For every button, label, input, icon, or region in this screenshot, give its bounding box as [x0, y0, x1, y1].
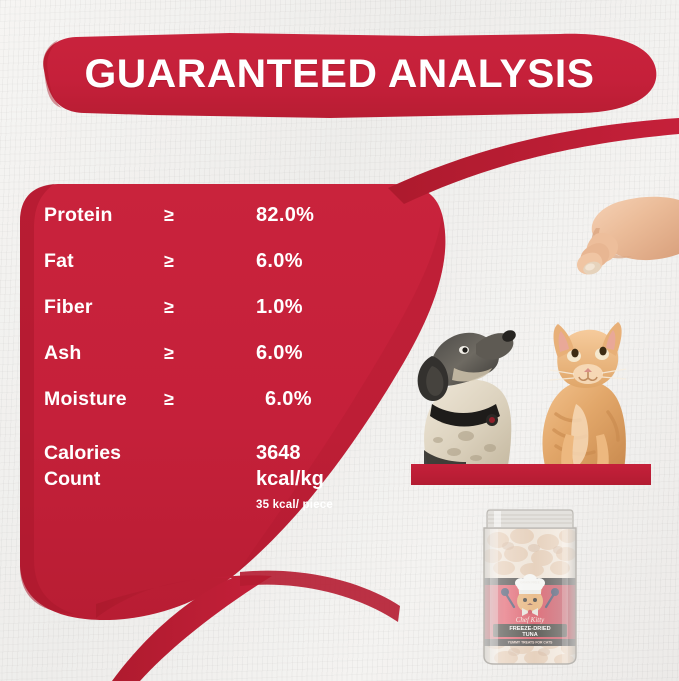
table-row: Protein ≥ 82.0%	[44, 204, 354, 250]
calorie-value: 3648 kcal/kg	[256, 440, 324, 492]
calorie-label-line1: Calories	[44, 440, 256, 466]
nutrient-label: Protein	[44, 204, 164, 227]
table-row: Fat ≥ 6.0%	[44, 250, 354, 296]
nutrient-value: 6.0%	[256, 342, 303, 365]
table-row: Fiber ≥ 1.0%	[44, 296, 354, 342]
hand-holding-treat-image	[566, 192, 679, 300]
nutrient-label: Moisture	[44, 388, 164, 411]
guaranteed-analysis-table: Protein ≥ 82.0% Fat ≥ 6.0% Fiber ≥ 1.0% …	[44, 204, 354, 511]
red-shelf-bar	[411, 464, 651, 485]
nutrient-operator: ≥	[164, 251, 256, 272]
dog-image	[410, 316, 535, 471]
nutrient-label: Fiber	[44, 296, 164, 319]
nutrient-value: 6.0%	[256, 388, 312, 411]
nutrient-operator: ≥	[164, 297, 256, 318]
nutrient-value: 1.0%	[256, 296, 303, 319]
calorie-per-piece-note: 35 kcal/ piece	[256, 499, 354, 511]
nutrient-value: 82.0%	[256, 204, 314, 227]
nutrient-value: 6.0%	[256, 250, 303, 273]
calorie-value-line1: 3648	[256, 440, 324, 466]
title-banner-shape	[43, 33, 656, 118]
table-row: Moisture ≥ 6.0%	[44, 388, 354, 434]
calorie-count-row: Calories Count 3648 kcal/kg	[44, 440, 354, 492]
calorie-label: Calories Count	[44, 440, 256, 492]
nutrient-label: Fat	[44, 250, 164, 273]
calorie-value-line2: kcal/kg	[256, 466, 324, 492]
product-jar-image: Chef Kitty FREEZE-DRIED TUNA YUMMY TREAT…	[474, 506, 586, 666]
nutrient-operator: ≥	[164, 205, 256, 226]
nutrient-label: Ash	[44, 342, 164, 365]
nutrient-operator: ≥	[164, 389, 256, 410]
calorie-label-line2: Count	[44, 466, 256, 492]
cat-image	[530, 312, 642, 472]
table-row: Ash ≥ 6.0%	[44, 342, 354, 388]
nutrient-operator: ≥	[164, 343, 256, 364]
